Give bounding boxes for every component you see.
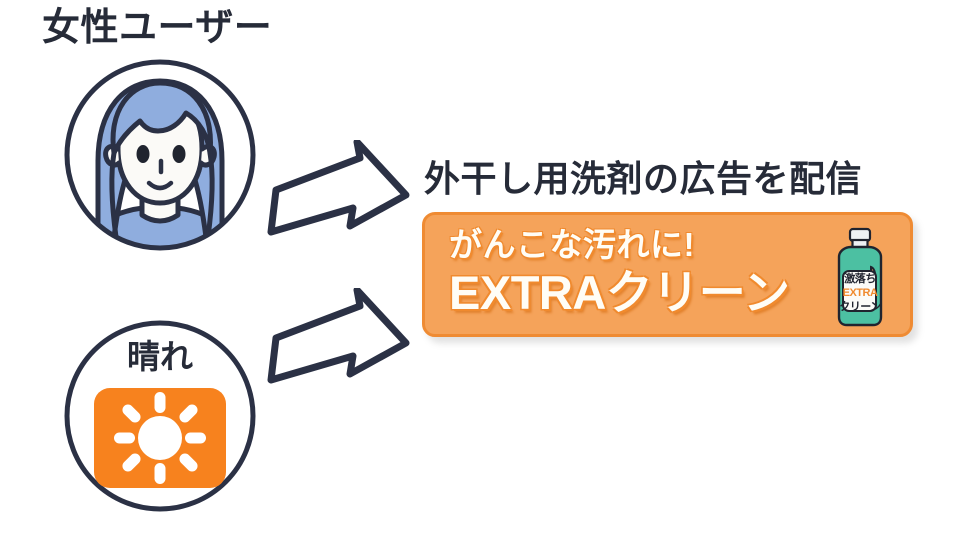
- page-title: 外干し用洗剤の広告を配信: [424, 158, 862, 199]
- weather-label: 晴れ: [62, 340, 258, 373]
- ad-tagline: がんこな汚れに!: [449, 226, 839, 265]
- avatar-svg: [62, 57, 258, 253]
- ad-copy-block: がんこな汚れに! EXTRAクリーン: [449, 226, 839, 319]
- detergent-bottle-icon: 激落ち EXTRA クリーン: [823, 227, 897, 329]
- arrow-bottom-svg: [256, 288, 428, 422]
- arrow-up-right-icon: [256, 288, 428, 422]
- user-segment-label: 女性ユーザー: [42, 8, 272, 50]
- arrow-down-right-icon: [256, 140, 428, 274]
- bottle-svg: [823, 227, 897, 329]
- arrow-top-svg: [256, 140, 428, 274]
- ad-product-name: EXTRAクリーン: [449, 267, 839, 319]
- ad-creative-banner[interactable]: がんこな汚れに! EXTRAクリーン 激落ち EXTRA クリーン: [422, 212, 913, 337]
- female-user-avatar-icon: [62, 57, 258, 253]
- diagram-canvas: 女性ユーザー: [0, 0, 976, 549]
- sun-icon: [114, 392, 206, 484]
- weather-condition-badge: 晴れ: [62, 318, 258, 514]
